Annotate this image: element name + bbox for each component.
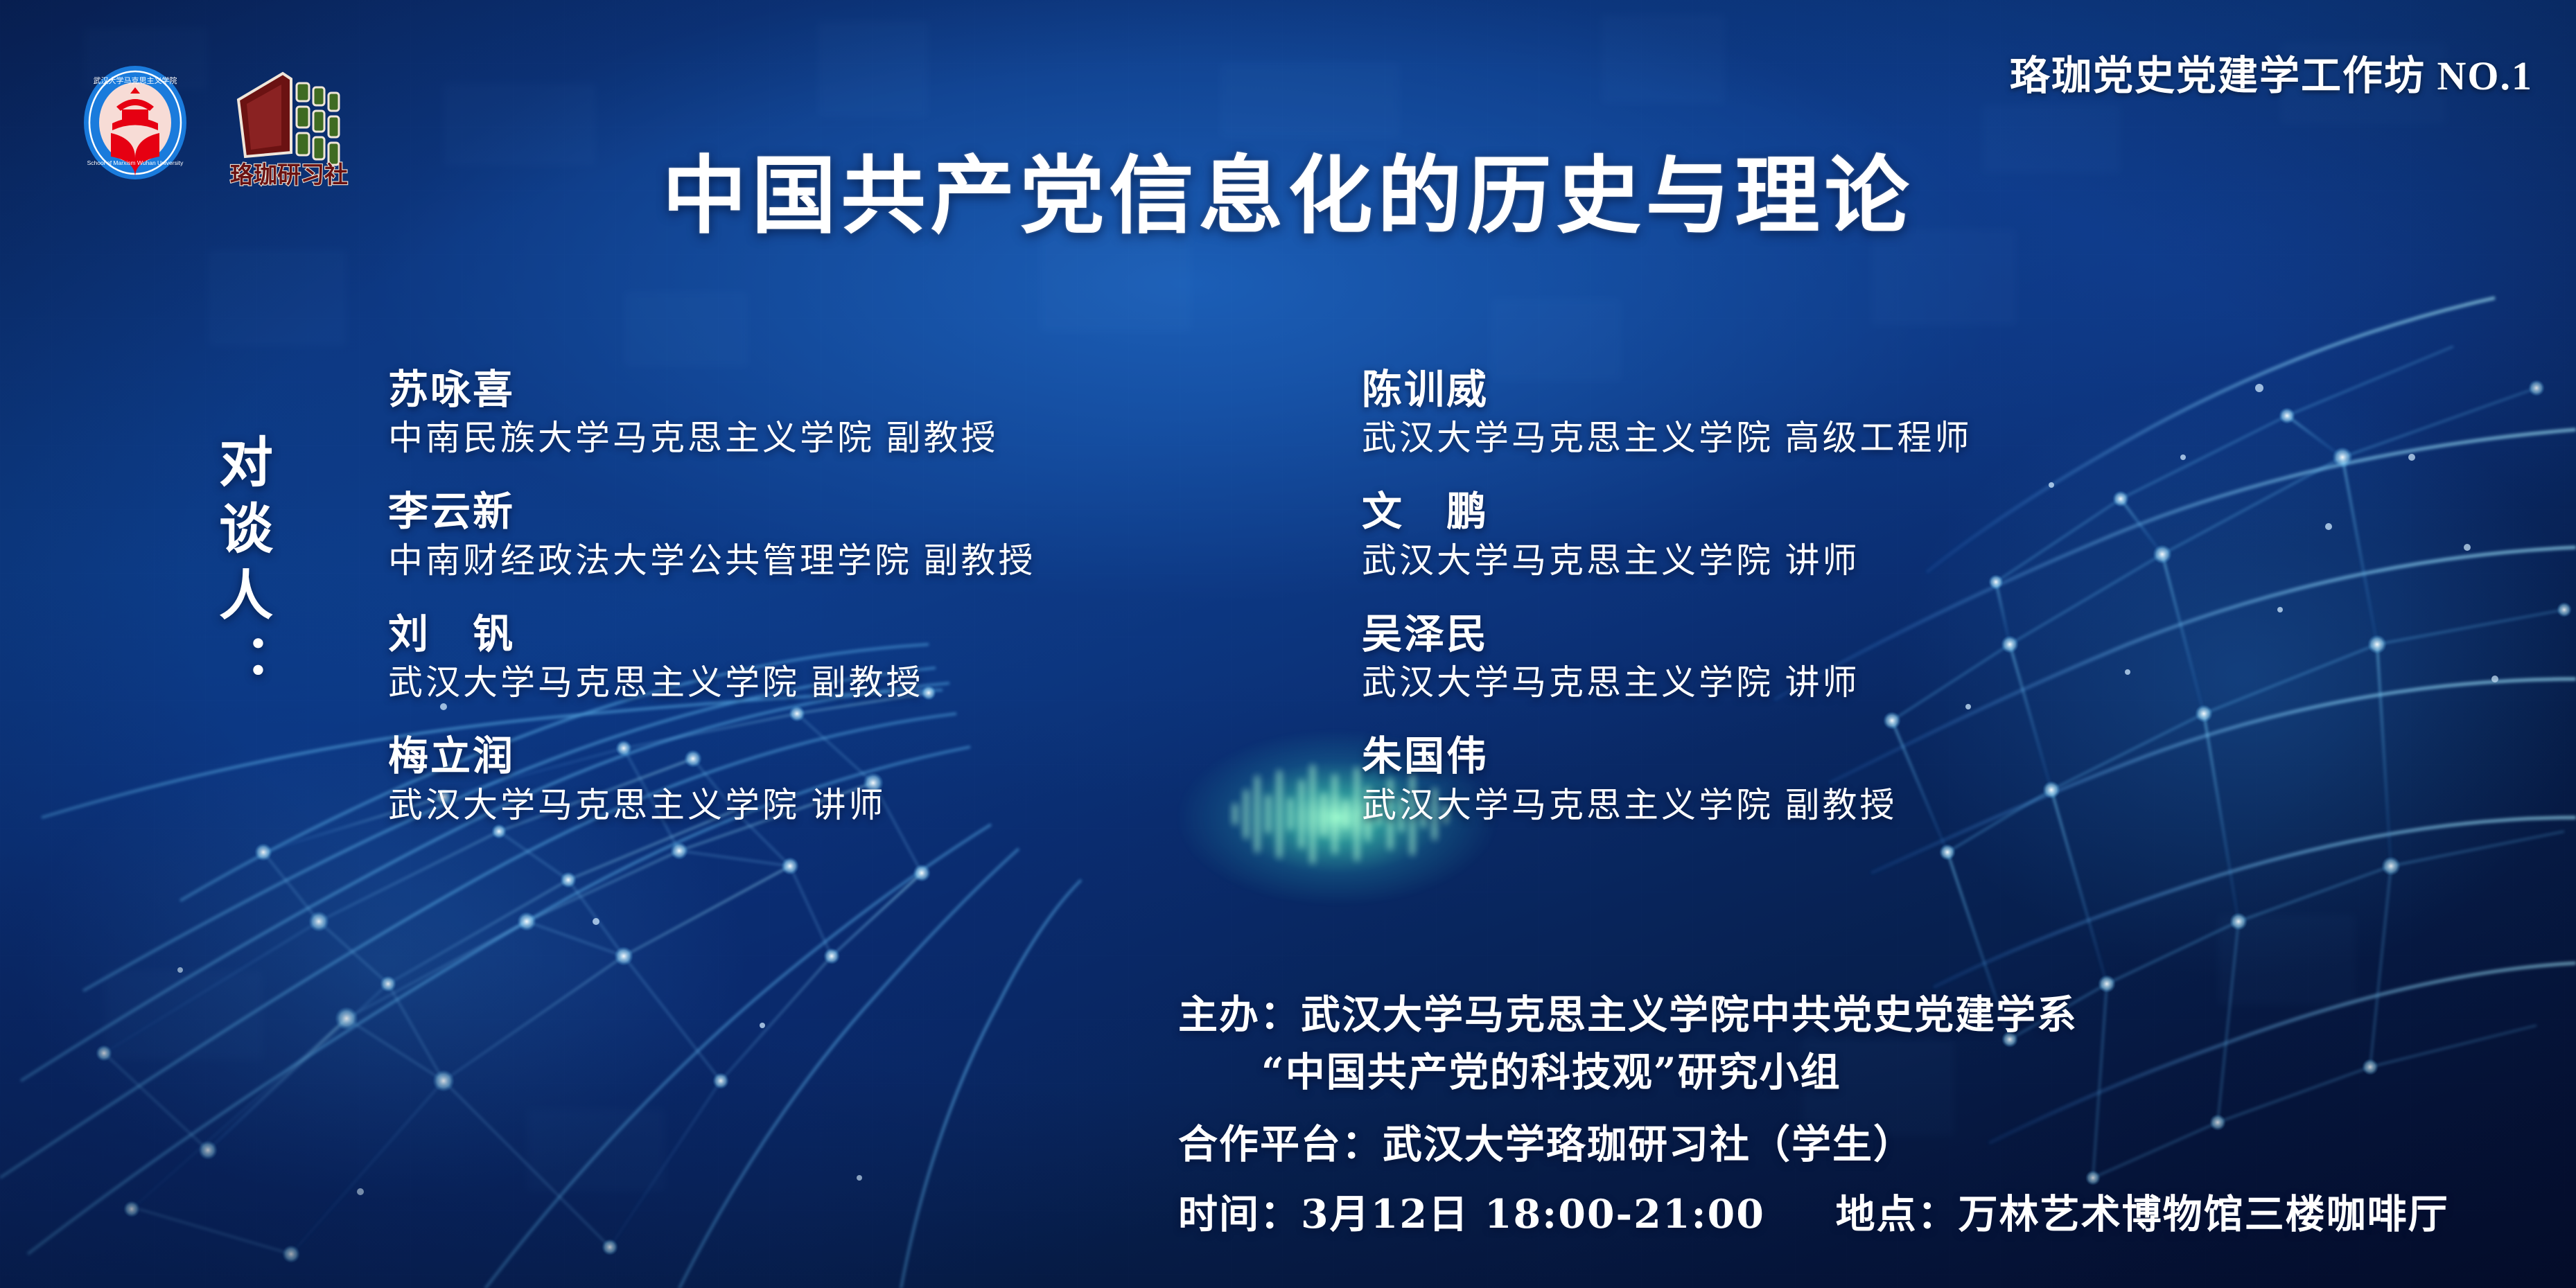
speaker-affiliation: 武汉大学马克思主义学院 讲师 [388,784,1299,826]
poster-root: School of Marxism Wuhan University 武汉大学马… [0,0,2576,1288]
speaker-name: 文 鹏 [1362,488,2273,535]
speaker-entry: 苏咏喜 中南民族大学马克思主义学院 副教授 [388,366,1299,459]
speakers-column-left: 苏咏喜 中南民族大学马克思主义学院 副教授 李云新 中南财经政法大学公共管理学院… [388,366,1299,855]
speakers-section: 苏咏喜 中南民族大学马克思主义学院 副教授 李云新 中南财经政法大学公共管理学院… [388,366,2273,855]
speaker-name: 苏咏喜 [388,366,1299,413]
speaker-affiliation: 武汉大学马克思主义学院 副教授 [1362,784,2273,826]
time-label: 时间：3月12日 18:00-21:00 [1178,1191,1765,1237]
panel-label-discussants: 对谈人： [198,434,274,700]
speaker-name: 梅立润 [388,732,1299,779]
svg-text:武汉大学马克思主义学院: 武汉大学马克思主义学院 [94,76,177,85]
speaker-entry: 李云新 中南财经政法大学公共管理学院 副教授 [388,488,1299,581]
speaker-entry: 朱国伟 武汉大学马克思主义学院 副教授 [1362,732,2273,825]
speaker-entry: 刘 钒 武汉大学马克思主义学院 副教授 [388,610,1299,703]
place-label: 地点：万林艺术博物馆三楼咖啡厅 [1836,1191,2449,1237]
speaker-affiliation: 中南财经政法大学公共管理学院 副教授 [388,540,1299,581]
footer-info: 主办：武汉大学马克思主义学院中共党史党建学系 “中国共产党的科技观”研究小组 合… [1178,987,2536,1244]
host-group-line: “中国共产党的科技观”研究小组 [1178,1044,2536,1102]
speaker-affiliation: 中南民族大学马克思主义学院 副教授 [388,417,1299,459]
page-title: 中国共产党信息化的历史与理论 [0,127,2576,250]
partner-line: 合作平台：武汉大学珞珈研习社（学生） [1178,1116,2536,1174]
speaker-name: 朱国伟 [1362,732,2273,779]
speakers-column-right: 陈训威 武汉大学马克思主义学院 高级工程师 文 鹏 武汉大学马克思主义学院 讲师… [1362,366,2273,855]
speaker-entry: 陈训威 武汉大学马克思主义学院 高级工程师 [1362,366,2273,459]
speaker-affiliation: 武汉大学马克思主义学院 高级工程师 [1362,417,2273,459]
speaker-name: 吴泽民 [1362,610,2273,658]
time-and-place-line: 时间：3月12日 18:00-21:00 地点：万林艺术博物馆三楼咖啡厅 [1178,1186,2536,1244]
speaker-entry: 梅立润 武汉大学马克思主义学院 讲师 [388,732,1299,825]
speaker-name: 李云新 [388,488,1299,535]
speaker-affiliation: 武汉大学马克思主义学院 讲师 [1362,540,2273,581]
speaker-entry: 吴泽民 武汉大学马克思主义学院 讲师 [1362,610,2273,703]
speaker-name: 陈训威 [1362,366,2273,413]
speaker-affiliation: 武汉大学马克思主义学院 讲师 [1362,662,2273,703]
speaker-affiliation: 武汉大学马克思主义学院 副教授 [388,662,1299,703]
speaker-name: 刘 钒 [388,610,1299,658]
host-line: 主办：武汉大学马克思主义学院中共党史党建学系 [1178,987,2536,1044]
speaker-entry: 文 鹏 武汉大学马克思主义学院 讲师 [1362,488,2273,581]
workshop-series-label: 珞珈党史党建学工作坊 NO.1 [2010,43,2533,101]
